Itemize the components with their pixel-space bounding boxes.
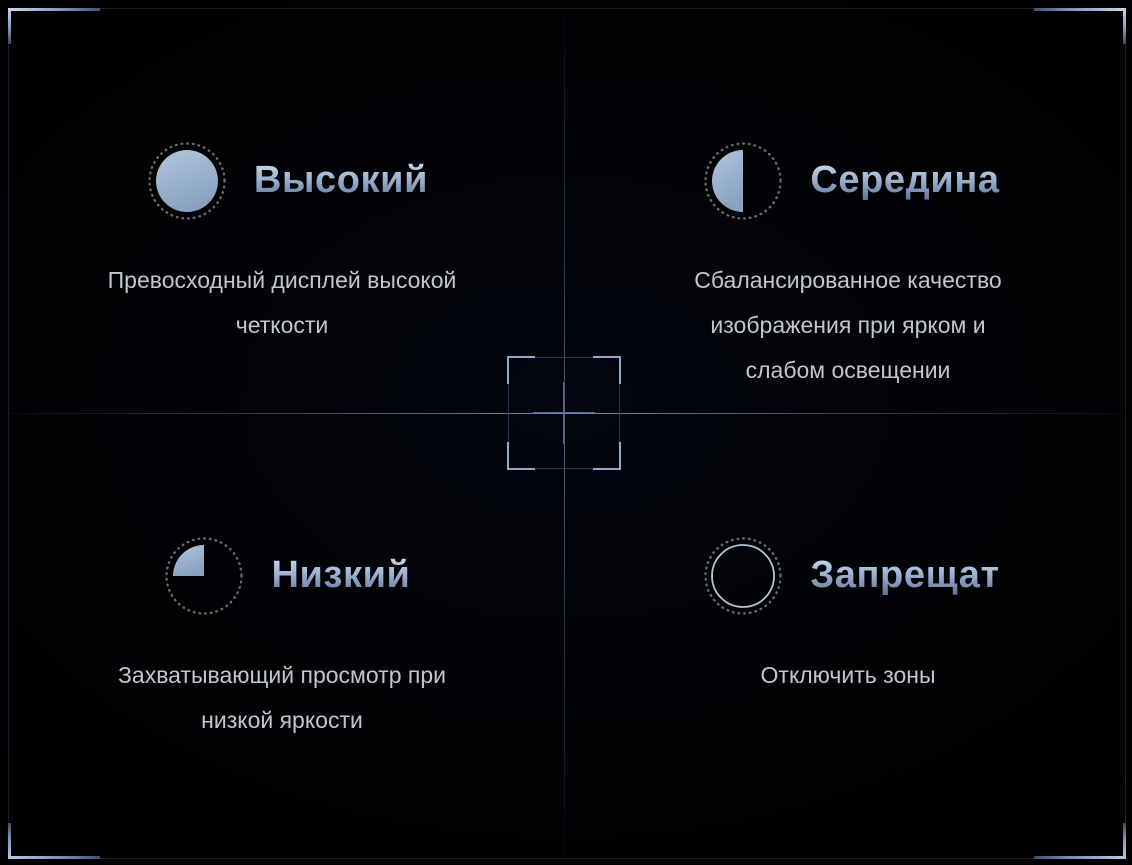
option-title-off: Запрещат — [810, 556, 999, 596]
option-description-low: Захватывающий просмотр при низкой яркост… — [117, 653, 447, 743]
option-card-high[interactable]: Высокий Превосходный дисплей высокой чет… — [0, 0, 564, 413]
circle-full-icon — [146, 140, 228, 222]
option-header-medium: Середина — [564, 140, 1132, 222]
option-header-off: Запрещат — [564, 535, 1132, 617]
option-description-high: Превосходный дисплей высокой четкости — [92, 258, 472, 348]
options-grid: Высокий Превосходный дисплей высокой чет… — [0, 0, 1132, 865]
option-header-high: Высокий — [0, 140, 564, 222]
option-card-off[interactable]: Запрещат Отключить зоны — [564, 413, 1132, 865]
circle-quarter-icon — [163, 535, 245, 617]
circle-empty-icon — [702, 535, 784, 617]
hdr-zone-selection-screen: Высокий Превосходный дисплей высокой чет… — [0, 0, 1132, 865]
option-title-high: Высокий — [254, 161, 428, 201]
option-header-low: Низкий — [0, 535, 564, 617]
option-title-low: Низкий — [271, 556, 410, 596]
option-card-low[interactable]: Низкий Захватывающий просмотр при низкой… — [0, 413, 564, 865]
circle-half-icon — [702, 140, 784, 222]
option-description-medium: Сбалансированное качество изображения пр… — [668, 258, 1028, 393]
option-description-off: Отключить зоны — [658, 653, 1038, 698]
option-title-medium: Середина — [810, 161, 999, 201]
option-card-medium[interactable]: Середина Сбалансированное качество изобр… — [564, 0, 1132, 413]
